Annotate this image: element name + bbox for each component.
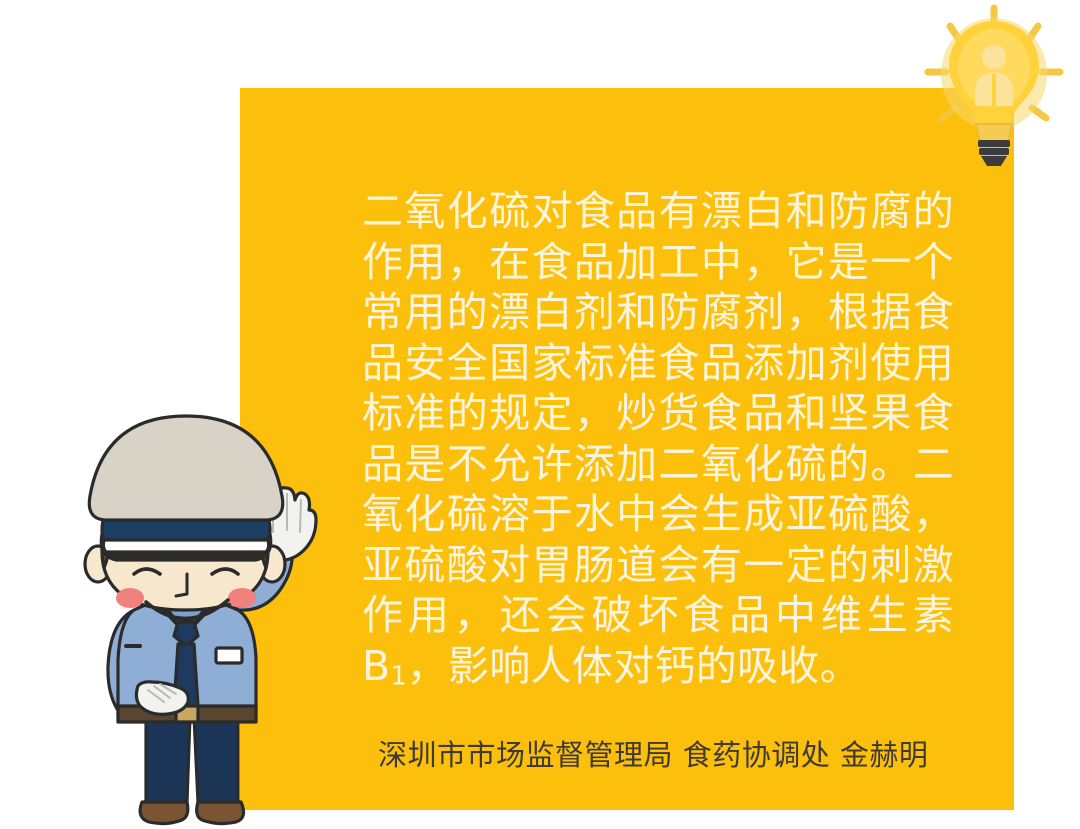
chest-badge — [216, 648, 242, 663]
body-text-tail: ，影响人体对钙的吸收。 — [407, 642, 861, 690]
officer-svg — [42, 398, 348, 829]
food-safety-inspector-mascot — [42, 398, 348, 829]
body-paragraph: 二氧化硫对食品有漂白和防腐的作用，在食品加工中，它是一个常用的漂白剂和防腐剂，根… — [362, 186, 954, 701]
infographic-canvas: 二氧化硫对食品有漂白和防腐的作用，在食品加工中，它是一个常用的漂白剂和防腐剂，根… — [0, 0, 1080, 829]
right-shoe — [197, 802, 244, 824]
cap-piping — [103, 540, 268, 552]
right-leg — [194, 716, 238, 810]
cap-crown — [89, 416, 282, 520]
body-text-main: 二氧化硫对食品有漂白和防腐的作用，在食品加工中，它是一个常用的漂白剂和防腐剂，根… — [362, 187, 954, 690]
lightbulb-idea-icon — [918, 2, 1070, 168]
resting-hand-glove — [136, 682, 188, 715]
lightbulb-base — [978, 140, 1010, 166]
vitamin-subscript: 1 — [390, 660, 406, 690]
right-blush — [228, 588, 256, 608]
lightbulb-neck — [976, 124, 1012, 142]
lightbulb-svg — [918, 2, 1070, 168]
left-shoe — [140, 802, 188, 824]
attribution-line: 深圳市市场监督管理局 食药协调处 金赫明 — [378, 736, 928, 774]
left-leg — [146, 716, 190, 810]
left-blush — [116, 588, 144, 608]
